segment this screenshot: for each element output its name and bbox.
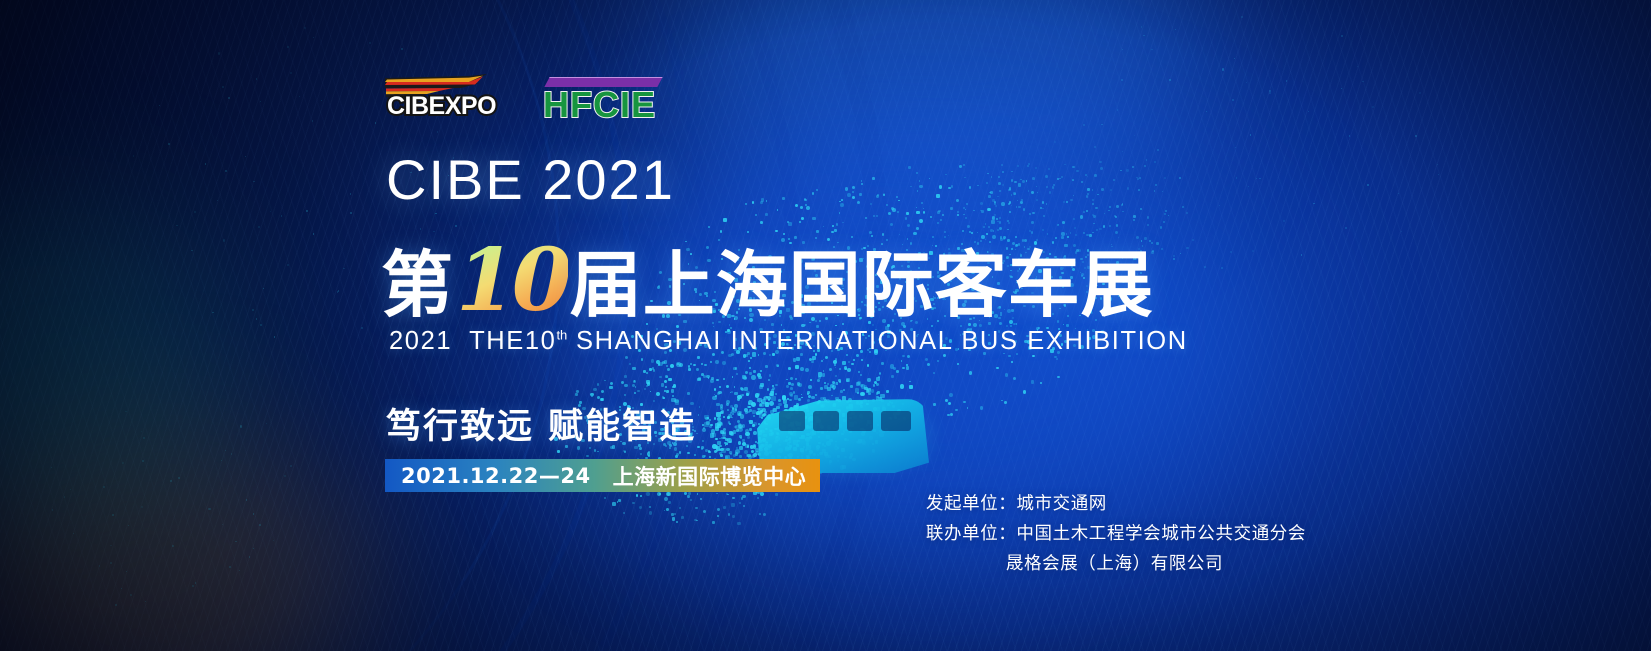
title-en-rest: SHANGHAI INTERNATIONAL BUS EXHIBITION [576, 327, 1188, 355]
cibexpo-logo: CIBEXPO [383, 72, 505, 128]
event-banner: CIBEXPO HFCIE CIBE 2021 第10届上海国际客车展 2021… [0, 0, 1651, 651]
title-suffix: 届上海国际客车展 [570, 243, 1154, 327]
title-en-the: THE10 [469, 327, 556, 355]
ordinal-suffix: th [556, 328, 567, 343]
edition-number: 10 [456, 230, 568, 331]
event-date: 2021.12.22—24 [401, 464, 591, 488]
organizer-block: 发起单位：城市交通网 联办单位：中国土木工程学会城市公共交通分会 晟格会展（上海… [926, 489, 1306, 579]
organizer-line: 发起单位：城市交通网 [926, 489, 1306, 519]
title-english: 2021 THE10th SHANGHAI INTERNATIONAL BUS … [389, 327, 1188, 356]
event-code: CIBE 2021 [386, 147, 675, 212]
slogan: 笃行致远 赋能智造 [386, 398, 696, 449]
event-venue: 上海新国际博览中心 [613, 461, 807, 491]
organizer-line: 晟格会展（上海）有限公司 [926, 549, 1306, 579]
date-venue-bar: 2021.12.22—24 上海新国际博览中心 [385, 459, 820, 492]
title-en-year: 2021 [389, 327, 452, 355]
hfcie-wordmark: HFCIE [543, 84, 656, 126]
title-prefix: 第 [381, 243, 454, 327]
page-title: 第10届上海国际客车展 [381, 226, 1154, 331]
organizer-line: 联办单位：中国土木工程学会城市公共交通分会 [926, 519, 1306, 549]
logo-row: CIBEXPO HFCIE [383, 72, 656, 128]
cibexpo-wordmark: CIBEXPO [387, 92, 496, 121]
hfcie-logo: HFCIE [543, 77, 656, 123]
